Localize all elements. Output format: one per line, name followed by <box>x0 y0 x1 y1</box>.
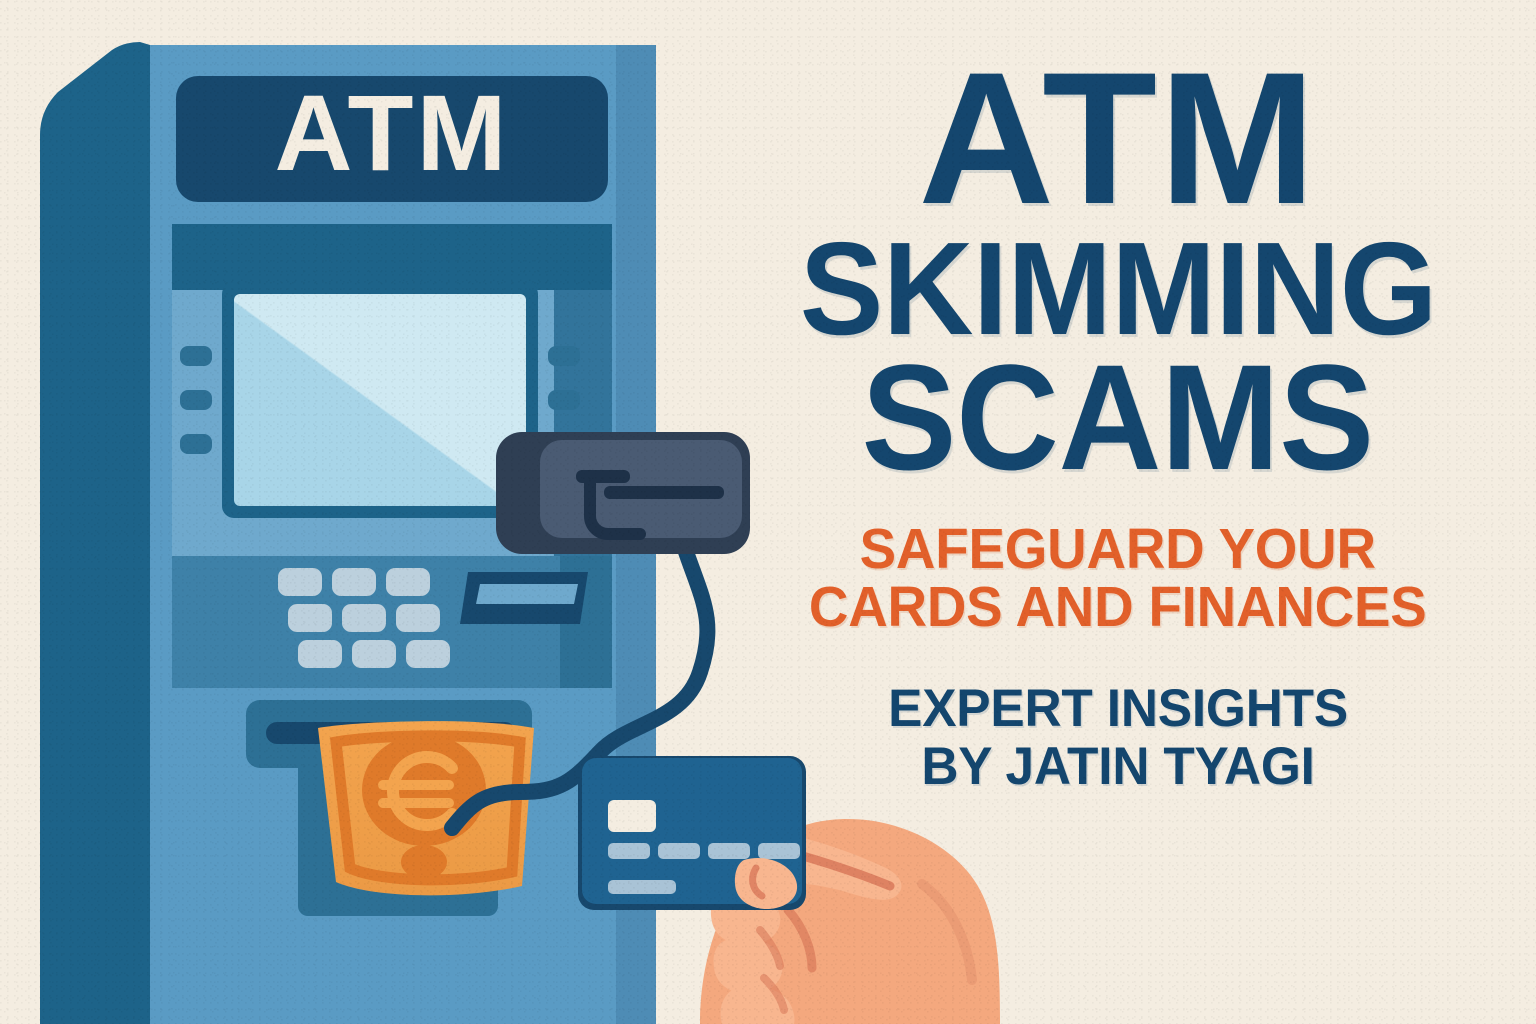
headline-line-2: SKIMMING <box>799 232 1436 346</box>
atm-keypad[interactable] <box>278 568 450 668</box>
card-chip <box>608 800 656 832</box>
atm-side-panel <box>40 42 150 1024</box>
poster-canvas: ATM <box>0 0 1536 1024</box>
atm-sign: ATM <box>176 72 608 202</box>
subtitle-line-2: CARDS AND FINANCES <box>809 578 1427 636</box>
banknote <box>318 721 534 895</box>
subtitle: SAFEGUARD YOUR CARDS AND FINANCES <box>809 520 1427 636</box>
atm-softkeys-left[interactable] <box>180 346 212 454</box>
headline-line-3: SCAMS <box>862 353 1374 482</box>
atm-screen <box>222 282 538 518</box>
headline-line-1: ATM <box>918 58 1317 220</box>
byline-line-1: EXPERT INSIGHTS <box>888 680 1348 737</box>
subtitle-line-1: SAFEGUARD YOUR <box>809 520 1427 578</box>
poster-text-column: ATM SKIMMING SCAMS SAFEGUARD YOUR CARDS … <box>700 0 1536 1024</box>
atm-sign-label: ATM <box>275 72 510 193</box>
byline: EXPERT INSIGHTS BY JATIN TYAGI <box>888 680 1348 794</box>
card-reader-slot[interactable] <box>460 572 588 624</box>
byline-line-2: BY JATIN TYAGI <box>888 738 1348 795</box>
